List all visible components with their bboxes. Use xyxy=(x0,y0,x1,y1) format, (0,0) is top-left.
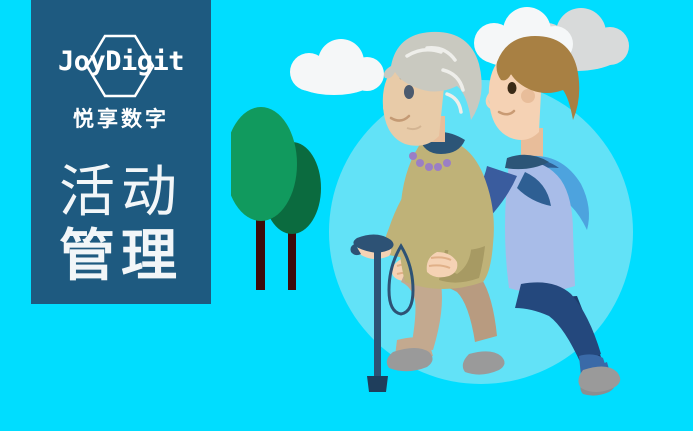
woman-eye xyxy=(404,85,414,99)
illustration-scene xyxy=(231,0,693,431)
title-panel: JoyDigit 悦享数字 活动 管理 xyxy=(31,0,211,304)
logo-wordmark: JoyDigit xyxy=(56,48,186,75)
brand-logo: JoyDigit xyxy=(56,32,186,102)
page-title-line1: 活动 xyxy=(59,160,183,225)
page-title: 活动 管理 xyxy=(59,161,183,289)
cloud-left-icon xyxy=(290,39,384,95)
poster-canvas: JoyDigit 悦享数字 活动 管理 xyxy=(0,0,693,431)
shoe-man-front xyxy=(578,366,620,392)
man-eye xyxy=(508,82,517,94)
page-title-line2: 管理 xyxy=(59,225,183,289)
brand-name-cn: 悦享数字 xyxy=(73,103,169,133)
tree-front xyxy=(231,107,297,290)
